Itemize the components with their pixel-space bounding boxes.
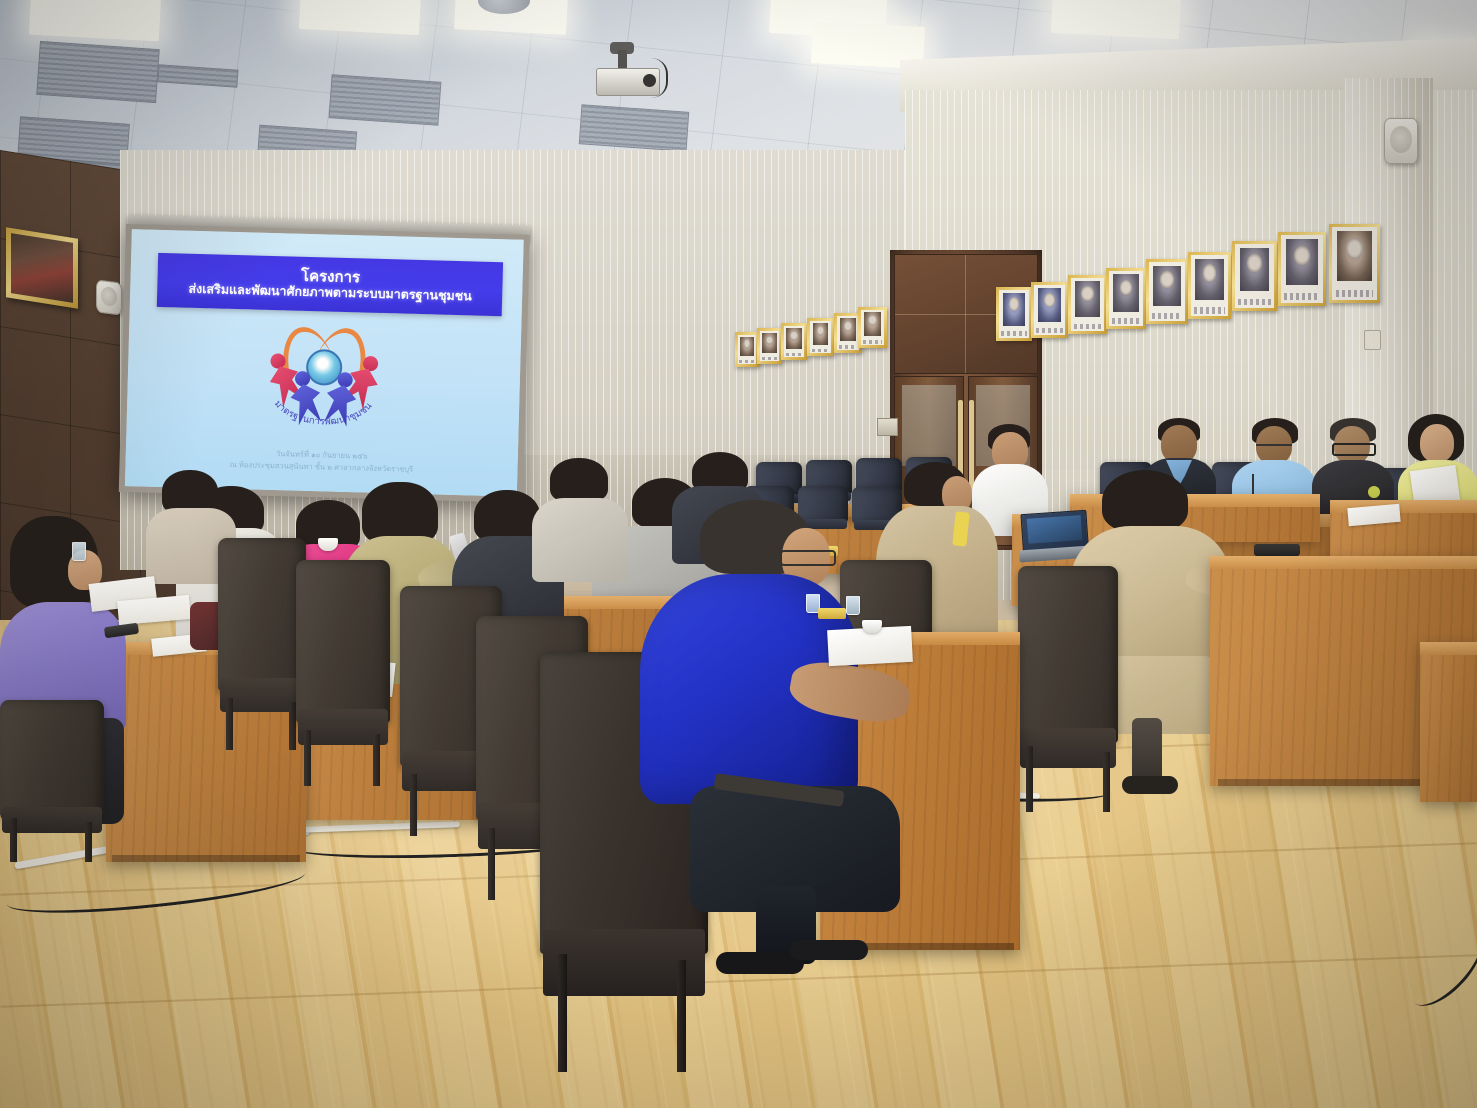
portrait-frame (1068, 275, 1107, 334)
air-vent (329, 74, 442, 126)
portrait-frame (1278, 232, 1326, 306)
hair (474, 490, 540, 542)
glasses-icon (1256, 444, 1292, 453)
hair (550, 458, 608, 502)
attendee-back-left (532, 458, 628, 578)
svg-text:มาตรฐานการพัฒนาชุมชน: มาตรฐานการพัฒนาชุมชน (271, 397, 375, 428)
slide-title: โครงการ (301, 269, 360, 286)
logo-caption: มาตรฐานการพัฒนาชุมชน (265, 382, 382, 425)
ceiling-light-panel (1051, 0, 1181, 39)
portrait-frame (858, 307, 887, 348)
chair[interactable] (0, 700, 104, 862)
projection-screen: โครงการ ส่งเสริมและพัฒนาศักยภาพตามระบบมา… (119, 224, 530, 503)
air-vent (579, 104, 690, 151)
snack-plate (818, 608, 846, 619)
logo-caption-text: มาตรฐานการพัฒนาชุมชน (271, 397, 375, 428)
door-intercom (877, 418, 898, 436)
chair[interactable] (218, 538, 306, 750)
sandal (790, 940, 868, 960)
portrait-frame (781, 323, 807, 360)
portrait-frame (1031, 282, 1068, 338)
portrait-frame (807, 318, 834, 356)
presentation-slide: โครงการ ส่งเสริมและพัฒนาศักยภาพตามระบบมา… (125, 229, 524, 497)
hair (362, 482, 438, 544)
logo-badge (1368, 486, 1380, 498)
leg (1132, 718, 1162, 784)
portrait-frame (1329, 224, 1380, 303)
attendee-blue-foreground (640, 500, 870, 980)
portrait-frame (1106, 268, 1146, 329)
face (1420, 424, 1454, 462)
hair (1102, 470, 1188, 532)
slide-subtitle: ส่งเสริมและพัฒนาศักยภาพตามระบบมาตรฐานชุม… (188, 283, 472, 303)
shoe (1122, 776, 1178, 794)
air-vent (36, 41, 159, 103)
ceiling-light-panel (29, 0, 161, 41)
row-desk-right-2 (1420, 642, 1477, 802)
portrait-frame (996, 287, 1032, 341)
glasses-icon (1332, 443, 1376, 456)
water-glass (846, 596, 860, 615)
speaker-icon (96, 279, 122, 315)
projector-cable (640, 58, 668, 98)
speaker-icon (1384, 118, 1418, 164)
meeting-room-photo: โครงการ ส่งเสริมและพัฒนาศักยภาพตามระบบมา… (0, 0, 1477, 1108)
chair[interactable] (1018, 566, 1118, 812)
portrait-frame (735, 332, 759, 367)
portrait-frame (1146, 259, 1188, 324)
power-outlet-icon (1364, 330, 1381, 350)
portrait-frame (757, 328, 782, 364)
chair[interactable] (296, 560, 390, 786)
portrait-frame (1188, 252, 1231, 319)
community-standard-logo: มาตรฐานการพัฒนาชุมชน (263, 325, 386, 423)
oil-painting-frame (6, 227, 78, 308)
water-glass (72, 542, 86, 561)
torso (532, 498, 628, 582)
glasses-icon (780, 550, 836, 566)
portrait-frame (1232, 241, 1277, 311)
slide-title-banner: โครงการ ส่งเสริมและพัฒนาศักยภาพตามระบบมา… (157, 253, 503, 316)
